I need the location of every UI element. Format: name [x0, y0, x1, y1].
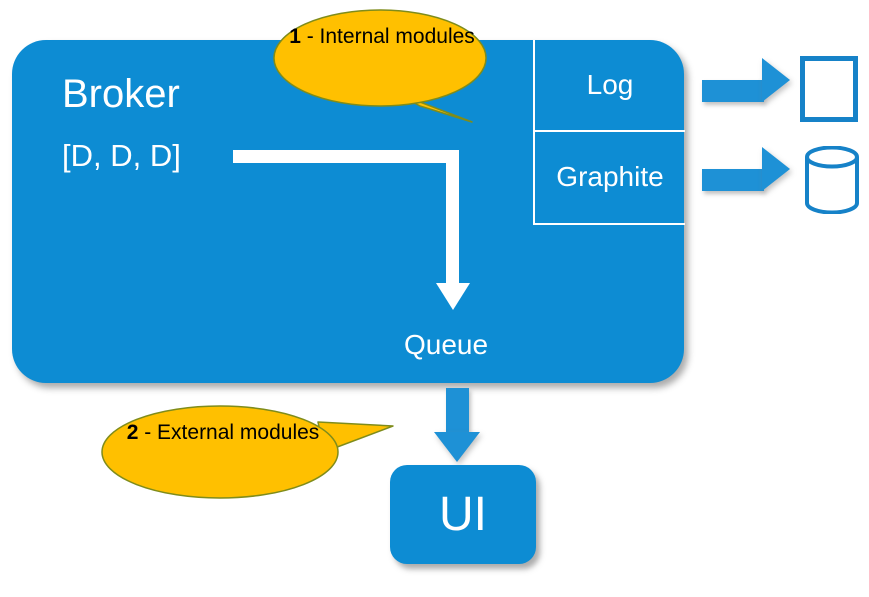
broker-title: Broker	[62, 74, 180, 114]
log-output-arrow-shaft	[702, 80, 764, 102]
module-label-log: Log	[587, 69, 634, 101]
module-row-log[interactable]: Log	[535, 40, 685, 132]
callout-internal-modules	[272, 6, 502, 131]
broker-subtitle: [D, D, D]	[62, 140, 181, 171]
queue-to-ui-arrowhead-icon	[434, 432, 480, 462]
diagram-canvas: Broker [D, D, D] Queue Log Graphite UI	[0, 0, 869, 597]
module-row-graphite[interactable]: Graphite	[535, 132, 685, 224]
module-label-graphite: Graphite	[556, 161, 663, 193]
ui-module-box[interactable]: UI	[390, 465, 536, 564]
graphite-output-arrowhead-icon	[762, 147, 790, 191]
database-cylinder-icon	[804, 146, 860, 214]
internal-modules-table: Log Graphite	[533, 40, 685, 225]
file-output-icon	[800, 56, 858, 122]
graphite-output-arrow-shaft	[702, 169, 764, 191]
queue-label: Queue	[404, 331, 488, 359]
callout-external-modules	[100, 404, 400, 514]
internal-flow-arrowhead-icon	[436, 283, 470, 310]
log-output-arrowhead-icon	[762, 58, 790, 102]
internal-flow-arrow-horizontal	[233, 150, 459, 163]
queue-to-ui-arrow-shaft	[446, 388, 469, 436]
ui-module-label: UI	[439, 491, 487, 539]
internal-flow-arrow-vertical	[446, 150, 459, 285]
